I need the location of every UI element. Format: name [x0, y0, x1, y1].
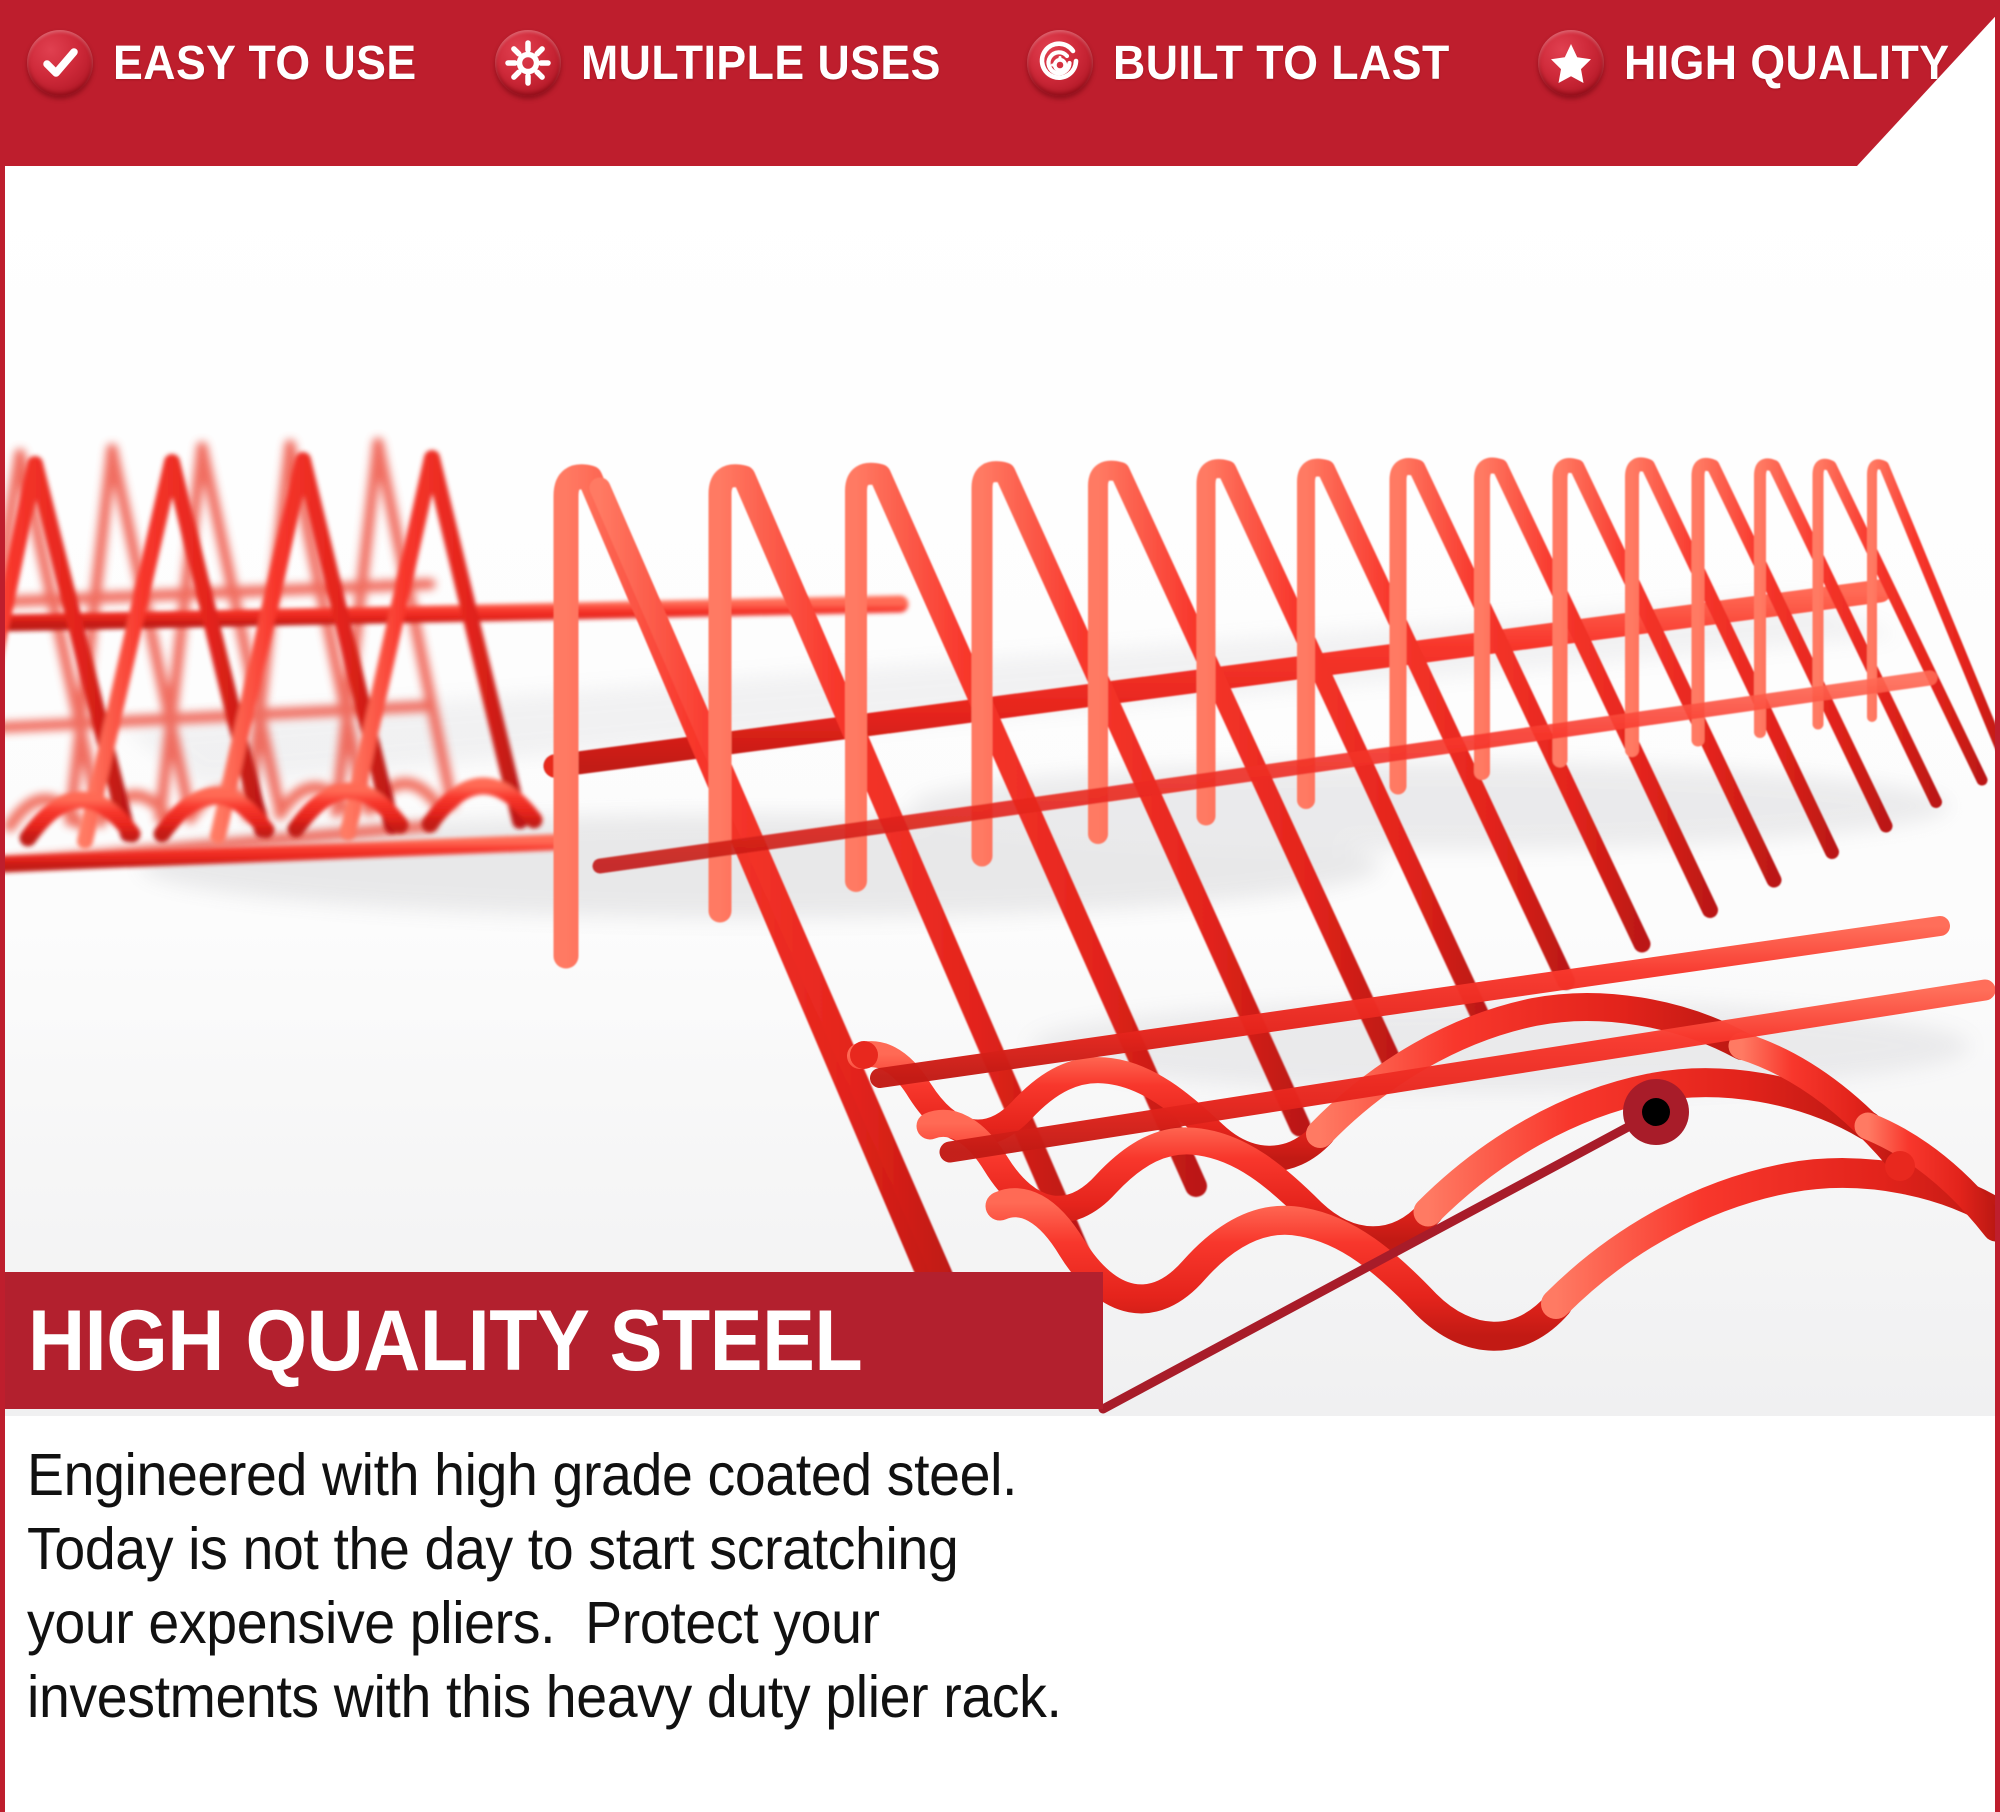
product-photo	[0, 166, 2000, 1416]
feature-item-built-to-last: BUILT TO LAST	[1027, 30, 1475, 96]
gear-icon	[495, 30, 561, 96]
feature-label: BUILT TO LAST	[1113, 36, 1450, 91]
body-copy-line: Engineered with high grade coated steel.	[27, 1438, 1437, 1512]
title-ribbon-text: HIGH QUALITY STEEL	[28, 1298, 862, 1384]
body-copy-line: Today is not the day to start scratching	[27, 1512, 1437, 1586]
feature-item-high-quality: HIGH QUALITY	[1538, 30, 1974, 96]
feature-item-easy-to-use: EASY TO USE	[27, 30, 440, 96]
body-copy: Engineered with high grade coated steel.…	[27, 1438, 1527, 1734]
feature-banner: EASY TO USE MULTIPLE USES	[5, 0, 2000, 166]
feature-label: HIGH QUALITY	[1624, 36, 1950, 91]
target-gear-icon	[1027, 30, 1093, 96]
feature-item-multiple-uses: MULTIPLE USES	[495, 30, 968, 96]
body-copy-line: your expensive pliers. Protect your	[27, 1586, 1437, 1660]
infographic-page: EASY TO USE MULTIPLE USES	[0, 0, 2000, 1812]
feature-label: EASY TO USE	[113, 36, 417, 91]
title-ribbon: HIGH QUALITY STEEL	[0, 1272, 1103, 1409]
feature-label: MULTIPLE USES	[581, 36, 941, 91]
body-copy-line: investments with this heavy duty plier r…	[27, 1660, 1437, 1734]
check-circle-icon	[27, 30, 93, 96]
star-icon	[1538, 30, 1604, 96]
